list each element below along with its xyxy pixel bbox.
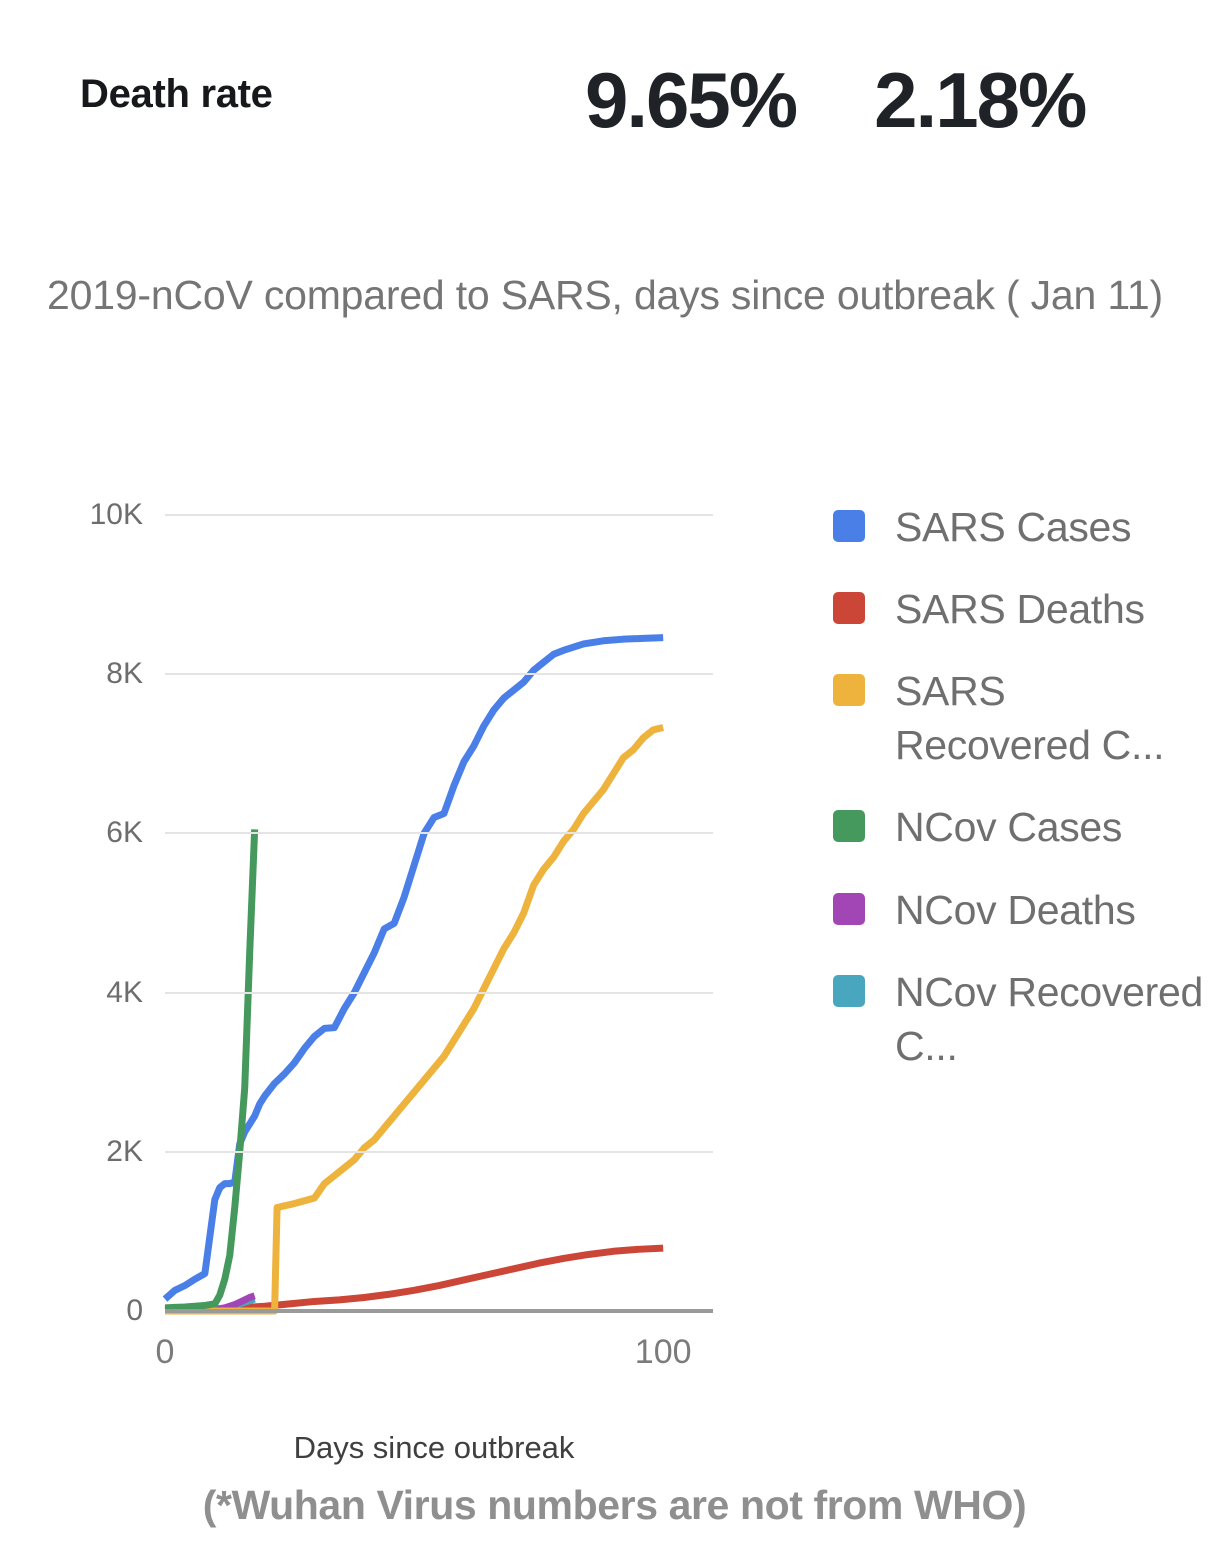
legend-swatch-icon (833, 592, 865, 624)
legend-swatch-icon (833, 975, 865, 1007)
legend-item[interactable]: SARS Deaths (833, 582, 1229, 636)
x-axis-tick-label: 100 (635, 1333, 692, 1372)
death-rate-value-sars: 9.65% (585, 46, 796, 155)
legend-item-label: SARS Recovered C... (895, 664, 1205, 772)
death-rate-label: Death rate (80, 72, 273, 117)
gridline-y (165, 673, 713, 675)
legend-item-label: SARS Deaths (895, 582, 1145, 636)
series-line (165, 728, 663, 1311)
x-axis-title: Days since outbreak (0, 1430, 868, 1466)
legend-item-label: NCov Cases (895, 800, 1122, 854)
legend-swatch-icon (833, 674, 865, 706)
y-axis-tick-label: 8K (106, 657, 143, 691)
chart-footnote: (*Wuhan Virus numbers are not from WHO) (0, 1482, 1229, 1529)
y-axis-tick-label: 2K (106, 1135, 143, 1169)
legend-item[interactable]: NCov Cases (833, 800, 1229, 854)
legend-item[interactable]: SARS Cases (833, 500, 1229, 554)
legend-item[interactable]: NCov Deaths (833, 883, 1229, 937)
y-axis-tick-label: 0 (126, 1294, 143, 1328)
y-axis-tick-label: 4K (106, 976, 143, 1010)
gridline-y (165, 992, 713, 994)
legend-swatch-icon (833, 810, 865, 842)
y-axis-tick-label: 10K (90, 498, 143, 532)
chart-legend: SARS CasesSARS DeathsSARS Recovered C...… (833, 500, 1229, 1101)
chart-title: 2019-nCoV compared to SARS, days since o… (47, 268, 1177, 322)
y-axis-tick-label: 6K (106, 816, 143, 850)
series-lines (165, 515, 713, 1311)
x-axis-tick-label: 0 (156, 1333, 175, 1372)
legend-swatch-icon (833, 893, 865, 925)
legend-swatch-icon (833, 510, 865, 542)
legend-item[interactable]: SARS Recovered C... (833, 664, 1229, 772)
death-rate-header: Death rate 9.65% 2.18% (0, 56, 1229, 146)
legend-item-label: NCov Recovered C... (895, 965, 1205, 1073)
legend-item-label: SARS Cases (895, 500, 1131, 554)
gridline-y (165, 832, 713, 834)
death-rate-value-ncov: 2.18% (874, 46, 1085, 155)
gridline-y (165, 514, 713, 516)
legend-item[interactable]: NCov Recovered C... (833, 965, 1229, 1073)
x-axis-line (165, 1309, 713, 1313)
series-line (165, 638, 663, 1299)
plot-area: 02K4K6K8K10K0100 (165, 515, 713, 1311)
death-rate-values: 9.65% 2.18% (585, 46, 1085, 155)
gridline-y (165, 1151, 713, 1153)
legend-item-label: NCov Deaths (895, 883, 1136, 937)
